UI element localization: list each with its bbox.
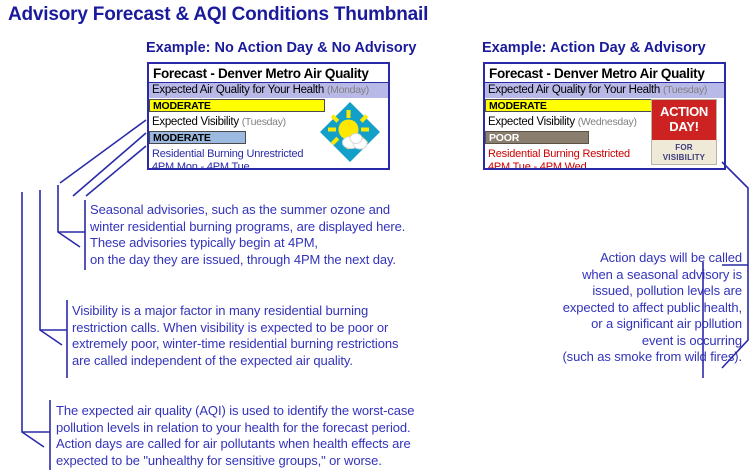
sun-cloud-icon (318, 100, 382, 164)
visibility-level-bar-right: POOR (485, 131, 589, 144)
action-day-badge-top: ACTION DAY! (652, 100, 716, 140)
forecast-header-right: Forecast - Denver Metro Air Quality (485, 64, 724, 83)
air-quality-label-text: Expected Air Quality for Your Health (152, 84, 324, 96)
page-title: Advisory Forecast & AQI Conditions Thumb… (8, 4, 428, 26)
visibility-day-right: (Wednesday) (578, 116, 637, 128)
visibility-level-bar-left: MODERATE (149, 131, 246, 144)
action-day-badge-line2: DAY! (652, 119, 716, 134)
air-quality-label-text: Expected Air Quality for Your Health (488, 84, 660, 96)
air-quality-day-right: (Tuesday) (663, 84, 707, 96)
callout-visibility: Visibility is a major factor in many res… (72, 303, 492, 369)
action-day-badge: ACTION DAY! FOR VISIBILITY (651, 99, 717, 165)
action-day-badge-bottom: FOR VISIBILITY (652, 140, 716, 163)
callout-action-days: Action days will be called when a season… (520, 250, 742, 366)
air-quality-row-label-left: Expected Air Quality for Your Health (Mo… (149, 83, 388, 98)
example-caption-right: Example: Action Day & Advisory (482, 40, 706, 56)
visibility-label-text: Expected Visibility (152, 116, 239, 128)
air-quality-row-label-right: Expected Air Quality for Your Health (Tu… (485, 83, 724, 98)
forecast-thumbnail-action-day: Forecast - Denver Metro Air Quality Expe… (483, 62, 726, 170)
example-caption-left: Example: No Action Day & No Advisory (146, 40, 416, 56)
air-quality-day-left: (Monday) (327, 84, 369, 96)
forecast-header-left: Forecast - Denver Metro Air Quality (149, 64, 388, 83)
visibility-day-left: (Tuesday) (242, 116, 286, 128)
callout-expected-air-quality: The expected air quality (AQI) is used t… (56, 403, 506, 469)
action-day-badge-line1: ACTION (652, 104, 716, 119)
action-day-badge-subline1: FOR (652, 143, 716, 153)
action-day-badge-subline2: VISIBILITY (652, 153, 716, 163)
air-quality-level-bar-left: MODERATE (149, 99, 325, 112)
visibility-label-text: Expected Visibility (488, 116, 575, 128)
forecast-thumbnail-no-action-day: Forecast - Denver Metro Air Quality Expe… (147, 62, 390, 170)
callout-seasonal-advisories: Seasonal advisories, such as the summer … (90, 202, 490, 268)
air-quality-level-bar-right: MODERATE (485, 99, 661, 112)
